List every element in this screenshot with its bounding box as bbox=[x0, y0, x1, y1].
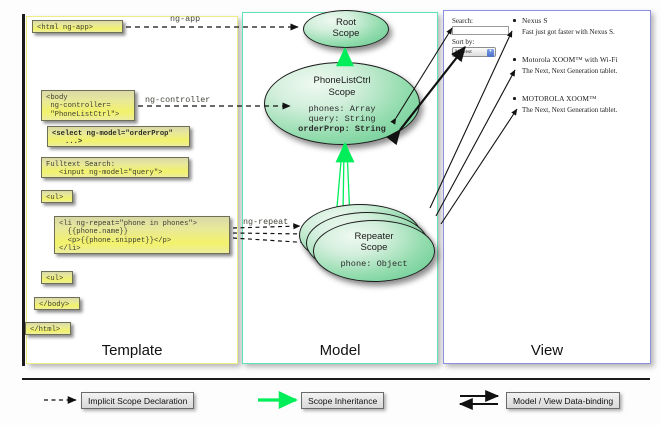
phone-snippet: The Next, Next Generation tablet. bbox=[522, 106, 617, 114]
sort-by-select[interactable]: Newest ▾ bbox=[452, 47, 496, 57]
repeater-scope-ellipse[interactable]: Repeater Scope phone: Object bbox=[313, 220, 435, 282]
root-scope-title-line1: Root bbox=[304, 17, 388, 28]
view-column-label: View bbox=[444, 342, 650, 359]
phone-list-ctrl-prop-orderprop: orderProp: String bbox=[265, 124, 419, 134]
phone-name: MOTOROLA XOOM™ bbox=[522, 94, 596, 103]
bullet-icon bbox=[513, 58, 516, 61]
phone-snippet: The Next, Next Generation tablet. bbox=[522, 67, 617, 75]
html-close-box[interactable]: </html> bbox=[25, 322, 71, 335]
diagram-canvas: Template <html ng-app> <body ng-controll… bbox=[0, 0, 661, 425]
search-input[interactable] bbox=[452, 26, 509, 35]
ng-repeat-label: ng-repeat bbox=[243, 217, 288, 227]
ng-controller-label: ng-controller bbox=[145, 95, 210, 105]
legend-double-arrow-icon bbox=[460, 396, 498, 404]
fulltext-search-box[interactable]: Fulltext Search: <input ng-model="query"… bbox=[41, 157, 189, 178]
template-column-label: Template bbox=[27, 342, 237, 359]
bullet-icon bbox=[513, 19, 516, 22]
root-scope-ellipse[interactable]: Root Scope bbox=[303, 10, 389, 48]
phone-list-ctrl-scope-title-line1: PhoneListCtrl bbox=[265, 75, 419, 86]
repeater-scope-title-line1: Repeater bbox=[314, 231, 434, 242]
repeater-scope-prop-phone: phone: Object bbox=[314, 259, 434, 269]
phone-list-ctrl-scope-ellipse[interactable]: PhoneListCtrl Scope phones: Array query:… bbox=[264, 62, 420, 145]
legend-model-view-databinding: Model / View Data-binding bbox=[506, 392, 620, 409]
phone-name: Motorola XOOM™ with Wi-Fi bbox=[522, 55, 618, 64]
sort-by-label: Sort by: bbox=[452, 38, 474, 46]
outer-frame-left-edge bbox=[22, 14, 25, 366]
root-scope-title-line2: Scope bbox=[304, 28, 388, 39]
li-ng-repeat-box[interactable]: <li ng-repeat="phone in phones"> {{phone… bbox=[54, 216, 230, 254]
sort-by-selected-value: Newest bbox=[455, 49, 472, 55]
model-column-label: Model bbox=[243, 342, 437, 359]
ul-open-box[interactable]: <ul> bbox=[41, 190, 73, 203]
phone-list-ctrl-prop-query: query: String bbox=[265, 114, 419, 124]
phone-list-ctrl-scope-title-line2: Scope bbox=[265, 87, 419, 98]
body-close-box[interactable]: </body> bbox=[34, 297, 80, 310]
repeater-scope-title-line2: Scope bbox=[314, 242, 434, 253]
outer-frame-bottom-edge bbox=[22, 378, 650, 380]
body-tag-box[interactable]: <body ng-controller= "PhoneListCtrl"> bbox=[41, 90, 135, 121]
phone-list-ctrl-prop-phones: phones: Array bbox=[265, 104, 419, 114]
ng-app-label: ng-app bbox=[170, 14, 200, 24]
phone-name: Nexus S bbox=[522, 16, 548, 25]
html-tag-box[interactable]: <html ng-app> bbox=[32, 20, 123, 33]
legend-implicit-scope-declaration: Implicit Scope Declaration bbox=[81, 392, 194, 409]
select-tag-box[interactable]: <select ng-model="orderProp" ...> bbox=[47, 126, 190, 147]
phone-snippet: Fast just got faster with Nexus S. bbox=[522, 28, 615, 36]
stepper-icon[interactable]: ▾ bbox=[487, 49, 494, 57]
ul-close-box[interactable]: <ul> bbox=[41, 271, 73, 284]
bullet-icon bbox=[513, 97, 516, 100]
legend-scope-inheritance: Scope Inheritance bbox=[301, 392, 384, 409]
search-label: Search: bbox=[452, 17, 473, 25]
